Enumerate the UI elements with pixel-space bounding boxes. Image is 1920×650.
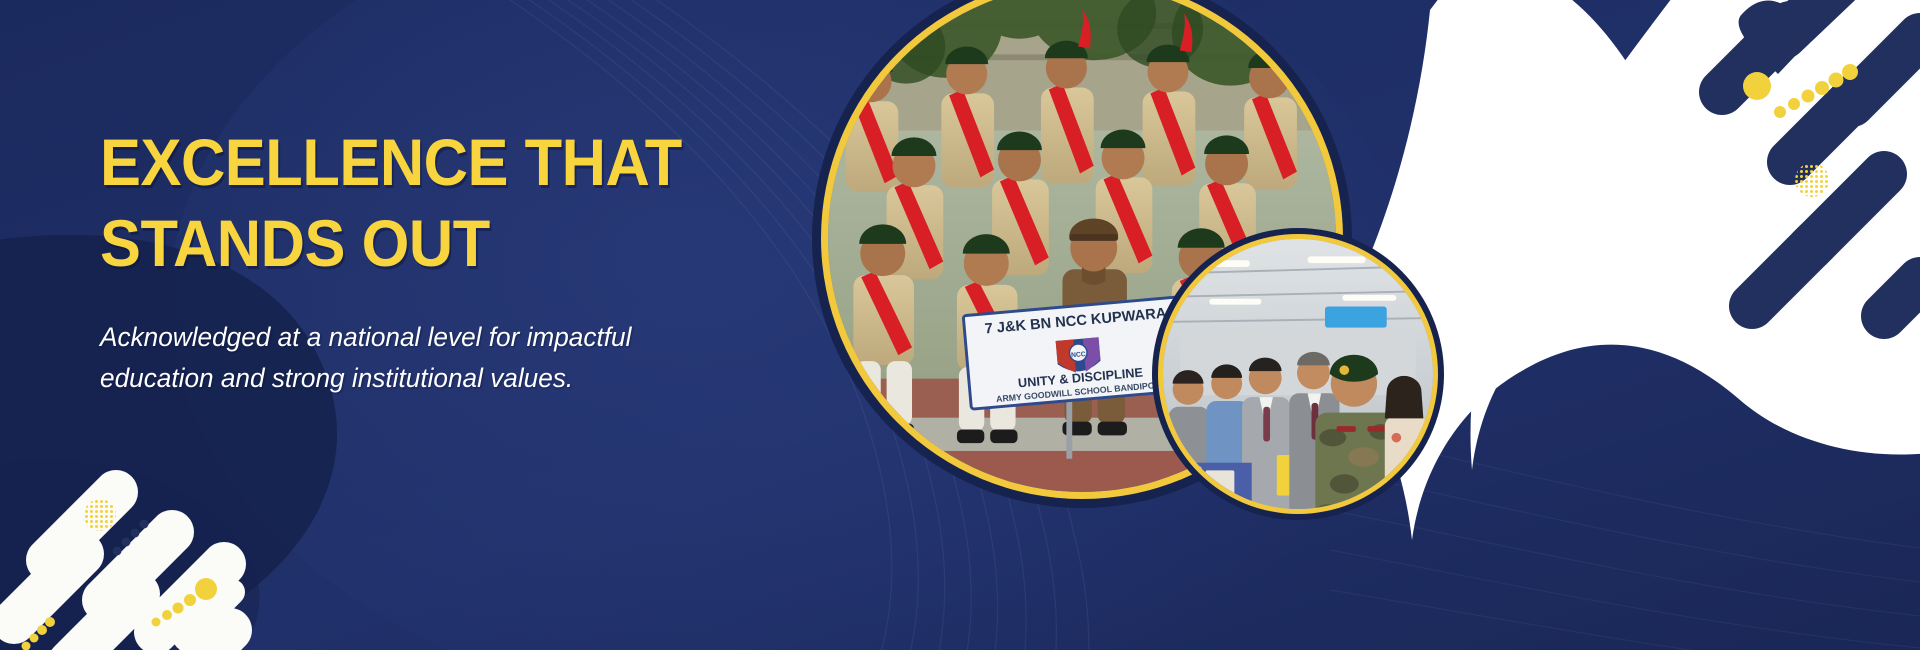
hero-subtitle: Acknowledged at a national level for imp… [100, 317, 721, 398]
hero-banner: EXCELLENCE THAT STANDS OUT Acknowledged … [0, 0, 1920, 650]
army-officer-exhibition-visit [1152, 228, 1444, 520]
svg-text:NCC: NCC [1071, 351, 1086, 359]
page-title: EXCELLENCE THAT STANDS OUT [100, 122, 807, 283]
hero-text-block: EXCELLENCE THAT STANDS OUT Acknowledged … [100, 122, 860, 398]
photo-image-secondary [1163, 239, 1433, 509]
photo-gold-ring-secondary [1158, 234, 1438, 514]
